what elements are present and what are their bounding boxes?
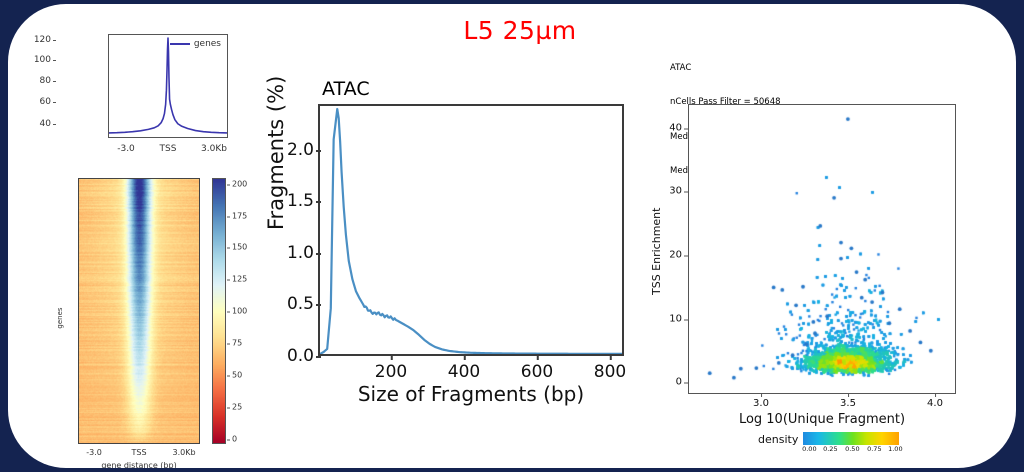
fragment-xtick-600: 600 — [521, 362, 553, 382]
density-colorbar-gradient — [803, 432, 899, 445]
colorbar-tick-75: 75 — [232, 339, 242, 348]
scatter-note-atac: ATAC — [670, 63, 808, 74]
scatter-ytick-0: 0 — [654, 377, 682, 388]
density-tick-0.50: 0.50 — [845, 445, 859, 453]
colorbar-tick-175: 175 — [232, 212, 247, 221]
fragment-ytick-1.0: 1.0 — [276, 243, 314, 263]
density-tick-0.25: 0.25 — [823, 445, 837, 453]
tss-profile-xtick-left: -3.0 — [117, 144, 135, 154]
tss-heatmap-xlabel: gene distance (bp) — [78, 461, 200, 468]
colorbar-tick-100: 100 — [232, 307, 247, 316]
fragment-heading-atac: ATAC — [322, 78, 575, 101]
scatter-axes — [688, 104, 956, 394]
tss-heatmap-canvas — [79, 179, 199, 443]
scatter-ytick-40: 40 — [654, 123, 682, 134]
density-tick-0.00: 0.00 — [802, 445, 816, 453]
tss-profile-xtick-center: TSS — [160, 144, 177, 154]
scatter-xtick-4.0: 4.0 — [927, 398, 943, 409]
scatter-points-canvas — [689, 105, 955, 393]
tss-heatmap-image — [78, 178, 200, 444]
tss-profile-ytick-40: 40 — [40, 119, 51, 129]
tss-heatmap-xtick-center: TSS — [131, 448, 146, 457]
scatter-ytick-30: 30 — [654, 186, 682, 197]
tss-profile-ytick-80: 80 — [40, 76, 51, 86]
panel-tss-profile-and-heatmap: genes 120 100 80 60 40 -3.0 TSS 3.0Kb ge… — [56, 28, 246, 458]
panel-fragment-size-distribution: ATAC nFrags = 210.93 M Fragment Size Dis… — [266, 32, 646, 412]
tss-heatmap-chart: genes -3.0 TSS 3.0Kb gene distance (bp) … — [56, 174, 246, 468]
panel-tss-vs-fragments-scatter: ATAC nCells Pass Filter = 50648 Median F… — [648, 40, 988, 440]
tss-profile-ytick-60: 60 — [40, 97, 51, 107]
colorbar-tick-125: 125 — [232, 275, 247, 284]
colorbar-tick-150: 150 — [232, 243, 247, 252]
tss-heatmap-xtick-left: -3.0 — [86, 448, 102, 457]
slide-title: L5 25µm — [8, 16, 1016, 45]
slide-background: L5 25µm genes 120 100 80 60 40 -3.0 TSS — [0, 0, 1024, 472]
tss-heatmap-ylabel: genes — [56, 307, 64, 328]
tss-profile-axes: genes — [108, 34, 228, 138]
scatter-xtick-3.0: 3.0 — [753, 398, 769, 409]
colorbar-tick-200: 200 — [232, 180, 247, 189]
colorbar-tick-0: 0 — [232, 435, 237, 444]
tss-profile-ytick-100: 100 — [34, 55, 51, 65]
fragment-ytick-0.5: 0.5 — [276, 294, 314, 314]
density-colorbar: density 0.00 0.25 0.50 0.75 1.00 — [758, 432, 899, 455]
tss-profile-xtick-right: 3.0Kb — [201, 144, 227, 154]
fragment-size-axes — [318, 104, 624, 356]
colorbar-tick-25: 25 — [232, 403, 242, 412]
fragment-xtick-200: 200 — [375, 362, 407, 382]
heatmap-colorbar — [212, 178, 226, 444]
fragment-ytick-0.0: 0.0 — [276, 346, 314, 366]
colorbar-tick-50: 50 — [232, 371, 242, 380]
scatter-ytick-10: 10 — [654, 314, 682, 325]
density-tick-0.75: 0.75 — [867, 445, 881, 453]
slide-card: L5 25µm genes 120 100 80 60 40 -3.0 TSS — [8, 4, 1016, 468]
scatter-xlabel: Log 10(Unique Fragment) — [688, 412, 956, 427]
tss-profile-chart: genes 120 100 80 60 40 -3.0 TSS 3.0Kb — [56, 28, 246, 168]
density-colorbar-label: density — [758, 432, 798, 446]
fragment-ytick-2.0: 2.0 — [276, 140, 314, 160]
density-tick-1.00: 1.00 — [888, 445, 902, 453]
fragment-size-line — [320, 106, 622, 354]
fragment-size-xlabel: Size of Fragments (bp) — [318, 382, 624, 406]
fragment-xtick-800: 800 — [594, 362, 626, 382]
fragment-xtick-400: 400 — [448, 362, 480, 382]
tss-profile-line — [109, 35, 227, 137]
scatter-ytick-20: 20 — [654, 250, 682, 261]
density-colorbar-ticks: 0.00 0.25 0.50 0.75 1.00 — [803, 445, 899, 455]
fragment-ytick-1.5: 1.5 — [276, 191, 314, 211]
scatter-xtick-3.5: 3.5 — [840, 398, 856, 409]
heatmap-colorbar-gradient — [213, 179, 225, 443]
tss-heatmap-xtick-right: 3.0Kb — [172, 448, 195, 457]
